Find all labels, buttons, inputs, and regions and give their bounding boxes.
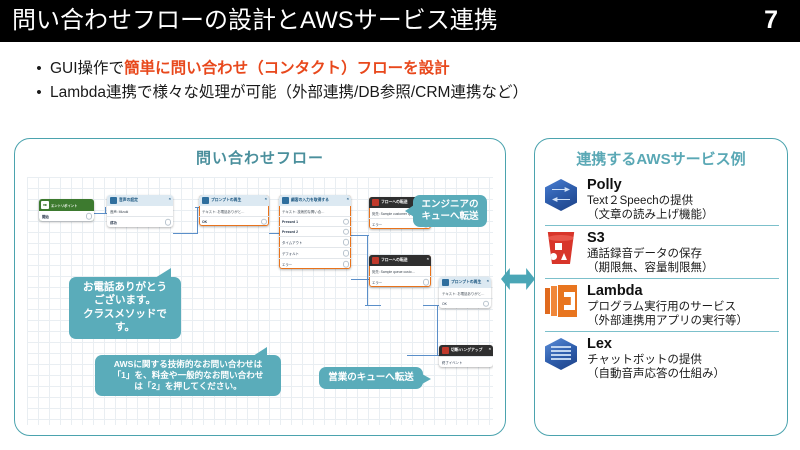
aws-service-desc-line1: プログラム実行用のサービス <box>587 300 779 314</box>
flow-node-play-prompt-2[interactable]: プロンプトの再生 × テキスト: お電話ありがと… OK <box>439 277 491 308</box>
bullet-item-2: • Lambda連携で様々な処理が可能（外部連携/DB参照/CRM連携など） <box>28 81 788 105</box>
flow-node-body: テキスト: お電話ありがと… <box>439 288 491 298</box>
aws-service-item-s3[interactable]: S3 通話録音データの保存 （期限無、容量制限無） <box>545 225 779 278</box>
bullet-item-1: • GUI操作で簡単に問い合わせ（コンタクト）フローを設計 <box>28 57 788 81</box>
callout-engineer-queue: エンジニアの キューへ転送 <box>413 195 487 227</box>
flow-node-branch-label: OK <box>202 220 207 224</box>
speaker-icon <box>202 197 209 204</box>
flow-node-header: 切断/ハングアップ × <box>439 345 493 356</box>
flow-node-body: テキスト: お電話ありがと… <box>199 206 269 216</box>
voice-icon <box>110 197 117 204</box>
slide-title-bar: 問い合わせフローの設計とAWSサービス連携 7 <box>0 0 800 42</box>
callout-line: 「1」を、料金や一般的なお問い合わせ <box>113 370 264 380</box>
flow-node-branch[interactable]: Pressed 1 <box>279 216 351 226</box>
connector-knob[interactable] <box>343 228 350 235</box>
close-icon[interactable]: × <box>347 196 349 201</box>
connector-knob[interactable] <box>483 300 490 307</box>
flow-node-branch-label: エラー <box>372 281 382 285</box>
callout-sales-queue: 営業のキューへ転送 <box>319 367 423 389</box>
page-number: 7 <box>764 3 778 37</box>
contact-flow-canvas[interactable]: エントリポイント 開始 音声の設定 × 音声: Mizuki 成功 <box>27 177 493 425</box>
flow-node-branch[interactable]: デフォルト <box>279 247 351 258</box>
close-icon[interactable]: × <box>265 196 267 201</box>
entry-arrow-icon <box>41 201 49 209</box>
flow-node-header: 音声の設定 × <box>107 195 173 206</box>
wire <box>367 235 368 279</box>
bullet-text-1-highlight: 簡単に問い合わせ（コンタクト）フローを設計 <box>124 60 450 77</box>
flow-node-branch[interactable]: 終了イベント <box>439 356 493 367</box>
flow-node-branch-label: エラー <box>282 263 292 267</box>
callout-line: キューへ転送 <box>421 211 478 222</box>
lex-icon <box>545 338 579 372</box>
flow-node-branch[interactable]: タイムアウト <box>279 236 351 247</box>
aws-service-desc-line1: 通話録音データの保存 <box>587 247 779 261</box>
close-icon[interactable]: × <box>489 346 491 351</box>
aws-service-desc-line2: （外部連携用アプリの実行等） <box>587 314 779 328</box>
aws-service-desc-line1: チャットボットの提供 <box>587 353 779 367</box>
flow-node-header: エントリポイント <box>39 199 94 211</box>
flow-node-branch[interactable]: 開始 <box>39 211 94 221</box>
aws-service-name: Lambda <box>587 283 779 300</box>
transfer-icon <box>372 199 379 206</box>
contact-flow-panel: 問い合わせフロー エントリポイント 開始 <box>14 138 506 436</box>
callout-line: エンジニアの <box>421 199 478 210</box>
aws-services-panel: 連携するAWSサービス例 Polly Text２Speechの提供 （文章の読み… <box>534 138 788 436</box>
flow-node-title: 切断/ハングアップ <box>451 348 482 353</box>
flow-node-title: プロンプトの再生 <box>451 280 481 285</box>
flow-node-body: テキスト: 技術的な問い合… <box>279 206 351 216</box>
flow-node-branch-label: タイムアウト <box>282 241 302 245</box>
callout-menu-prompt: AWSに関する技術的なお問い合わせは 「1」を、料金や一般的なお問い合わせ は「… <box>95 355 281 396</box>
connector-knob[interactable] <box>343 218 350 225</box>
speaker-icon <box>442 279 449 286</box>
aws-service-name: Polly <box>587 177 779 194</box>
wire <box>367 279 368 305</box>
flow-node-body: 音声: Mizuki <box>107 206 173 216</box>
flow-node-branch-label: 開始 <box>42 215 49 219</box>
wire <box>173 233 197 234</box>
flow-node-title: プロンプトの再生 <box>211 198 241 203</box>
flow-node-branch[interactable]: OK <box>439 298 491 308</box>
bullet-text-1-plain: GUI操作で <box>50 60 124 77</box>
flow-node-title: エントリポイント <box>51 203 77 208</box>
flow-node-branch-label: 終了イベント <box>442 361 462 365</box>
flow-node-body: 宛先: Sample queue custo… <box>369 266 431 276</box>
flow-node-set-voice[interactable]: 音声の設定 × 音声: Mizuki 成功 <box>107 195 173 227</box>
flow-node-header: プロンプトの再生 × <box>199 195 269 206</box>
lambda-icon <box>545 285 579 319</box>
close-icon[interactable]: × <box>427 256 429 261</box>
flow-node-branch[interactable]: エラー <box>279 258 351 269</box>
wire <box>437 305 438 355</box>
flow-node-branch-label: エラー <box>372 223 382 227</box>
callout-tail-icon <box>405 205 414 217</box>
aws-service-desc-line1: Text２Speechの提供 <box>587 194 779 208</box>
flow-node-branch-label: Pressed 1 <box>282 220 298 224</box>
callout-line: お電話ありがとう <box>83 281 167 293</box>
page-title: 問い合わせフローの設計とAWSサービス連携 <box>12 5 498 37</box>
callout-line: は「2」を押してください。 <box>134 381 241 391</box>
connector-knob[interactable] <box>261 218 268 225</box>
flow-node-header: 顧客の入力を取得する × <box>279 195 351 206</box>
callout-tail-icon <box>253 347 267 356</box>
wire <box>365 305 381 306</box>
flow-node-branch-label: OK <box>442 302 447 306</box>
bullet-marker-icon: • <box>28 57 50 81</box>
transfer-icon <box>372 257 379 264</box>
flow-node-entry-point[interactable]: エントリポイント 開始 <box>39 199 94 221</box>
wire <box>197 207 198 234</box>
keypad-icon <box>282 197 289 204</box>
wire <box>105 207 106 214</box>
callout-tail-icon <box>155 268 171 278</box>
flow-node-title: 顧客の入力を取得する <box>291 198 329 203</box>
aws-service-desc-line2: （期限無、容量制限無） <box>587 261 779 275</box>
close-icon[interactable]: × <box>169 196 171 201</box>
flow-node-header: プロンプトの再生 × <box>439 277 491 288</box>
callout-line: クラスメソッドです。 <box>83 308 167 333</box>
connector-knob[interactable] <box>343 250 350 257</box>
callout-tail-icon <box>422 374 431 384</box>
flow-node-title: フローへの転送 <box>381 200 408 205</box>
bullet-text-1: GUI操作で簡単に問い合わせ（コンタクト）フローを設計 <box>50 57 450 81</box>
flow-node-title: 音声の設定 <box>119 198 138 203</box>
aws-service-name: S3 <box>587 230 779 247</box>
callout-line: 営業のキューへ転送 <box>328 372 414 383</box>
aws-services-panel-title: 連携するAWSサービス例 <box>535 148 787 169</box>
aws-service-item-lex[interactable]: Lex チャットボットの提供 （自動音声応答の仕組み） <box>545 331 779 384</box>
bullet-list: • GUI操作で簡単に問い合わせ（コンタクト）フローを設計 • Lambda連携… <box>28 57 788 105</box>
flow-node-branch[interactable]: エラー <box>369 276 431 287</box>
flow-node-get-customer-input[interactable]: 顧客の入力を取得する × テキスト: 技術的な問い合… Pressed 1 Pr… <box>279 195 351 269</box>
connector-knob[interactable] <box>423 279 430 286</box>
callout-line: ございます。 <box>94 294 156 306</box>
aws-service-item-polly[interactable]: Polly Text２Speechの提供 （文章の読み上げ機能） <box>545 173 779 225</box>
flow-node-disconnect[interactable]: 切断/ハングアップ × 終了イベント <box>439 345 493 367</box>
connector-knob[interactable] <box>343 261 350 268</box>
double-arrow-icon <box>501 268 535 290</box>
flow-node-play-prompt-1[interactable]: プロンプトの再生 × テキスト: お電話ありがと… OK <box>199 195 269 226</box>
aws-service-list: Polly Text２Speechの提供 （文章の読み上げ機能） S3 通話録音… <box>545 173 779 384</box>
flow-node-branch[interactable]: 成功 <box>107 216 173 227</box>
callout-line: AWSに関する技術的なお問い合わせは <box>114 359 262 369</box>
flow-node-branch[interactable]: OK <box>199 216 269 226</box>
disconnect-icon <box>442 347 449 354</box>
connector-knob[interactable] <box>343 239 350 246</box>
connector-knob[interactable] <box>165 219 172 226</box>
flow-node-transfer-to-flow-2[interactable]: フローへの転送 × 宛先: Sample queue custo… エラー <box>369 255 431 287</box>
callout-greeting: お電話ありがとう ございます。 クラスメソッドです。 <box>69 277 181 339</box>
bullet-marker-icon: • <box>28 81 50 105</box>
s3-icon <box>545 232 579 266</box>
flow-node-header: フローへの転送 × <box>369 255 431 266</box>
flow-node-title: フローへの転送 <box>381 258 408 263</box>
wire <box>407 355 439 356</box>
close-icon[interactable]: × <box>487 278 489 283</box>
flow-node-branch-label: デフォルト <box>282 252 299 256</box>
flow-node-branch-label: Pressed 2 <box>282 230 298 234</box>
aws-service-desc-line2: （文章の読み上げ機能） <box>587 208 779 222</box>
aws-service-desc-line2: （自動音声応答の仕組み） <box>587 367 779 381</box>
polly-icon <box>545 179 579 213</box>
flow-node-branch[interactable]: Pressed 2 <box>279 226 351 236</box>
connector-knob[interactable] <box>86 213 93 220</box>
aws-service-item-lambda[interactable]: Lambda プログラム実行用のサービス （外部連携用アプリの実行等） <box>545 278 779 331</box>
aws-service-name: Lex <box>587 336 779 353</box>
bullet-text-2: Lambda連携で様々な処理が可能（外部連携/DB参照/CRM連携など） <box>50 81 528 105</box>
contact-flow-panel-title: 問い合わせフロー <box>15 147 505 168</box>
flow-node-branch-label: 成功 <box>110 221 117 225</box>
